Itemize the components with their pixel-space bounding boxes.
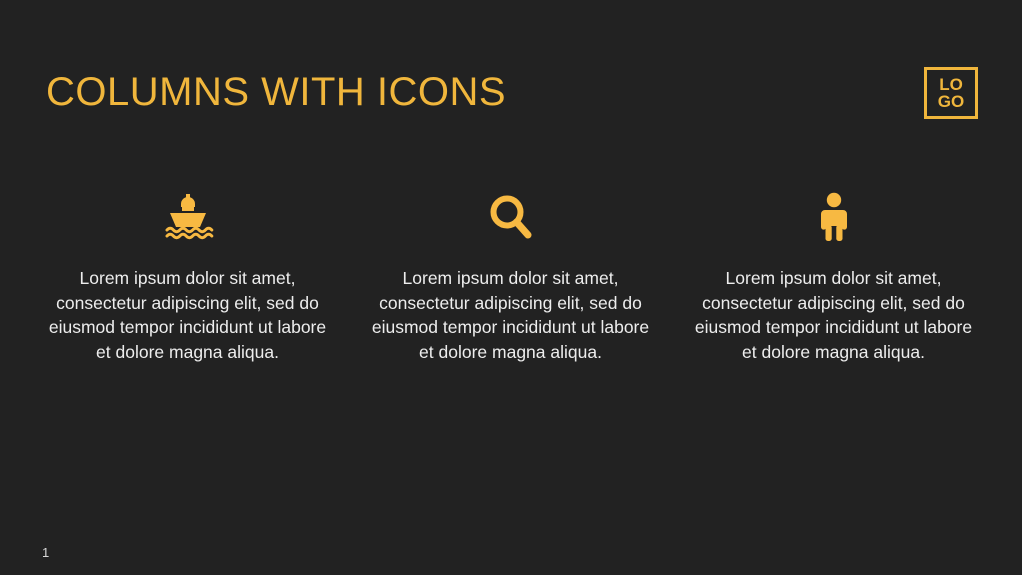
column-body-text: Lorem ipsum dolor sit amet, consectetur … xyxy=(48,266,328,364)
page-title: COLUMNS WITH ICONS xyxy=(46,66,506,118)
column-3: Lorem ipsum dolor sit amet, consectetur … xyxy=(672,190,995,364)
page-number: 1 xyxy=(42,545,49,561)
logo-text-line-2: GO xyxy=(938,93,964,110)
column-body-text: Lorem ipsum dolor sit amet, consectetur … xyxy=(694,266,974,364)
logo-box: LO GO xyxy=(924,67,978,119)
magnifying-glass-icon xyxy=(486,190,536,244)
slide-canvas: COLUMNS WITH ICONS LO GO xyxy=(0,0,1022,575)
logo-text-line-1: LO xyxy=(939,76,963,93)
ship-icon xyxy=(162,190,214,244)
person-icon xyxy=(816,190,852,244)
column-1: Lorem ipsum dolor sit amet, consectetur … xyxy=(26,190,349,364)
columns-container: Lorem ipsum dolor sit amet, consectetur … xyxy=(26,190,996,364)
column-2: Lorem ipsum dolor sit amet, consectetur … xyxy=(349,190,672,364)
column-body-text: Lorem ipsum dolor sit amet, consectetur … xyxy=(371,266,651,364)
